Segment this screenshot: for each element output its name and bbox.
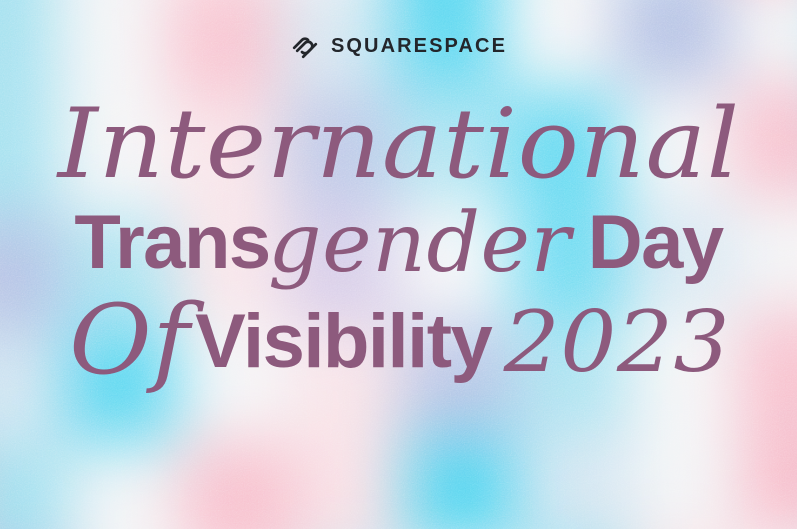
headline-word-gender: gender	[268, 203, 571, 285]
squarespace-logo-mark-icon	[290, 31, 320, 61]
headline-word-visibility: Visibility	[195, 304, 491, 380]
background-cell	[739, 422, 797, 529]
background-cell	[403, 431, 518, 529]
background-cell	[291, 434, 406, 529]
background-cell	[515, 428, 630, 529]
headline-word-day: Day	[588, 205, 723, 281]
background-cell	[180, 437, 295, 529]
headline-line-3: OfVisibility2023	[0, 286, 797, 378]
headline-word-year: 2023	[504, 300, 731, 384]
background-cell	[68, 440, 183, 529]
headline-block: International TransgenderDay OfVisibilit…	[0, 96, 797, 378]
squarespace-logo-lockup[interactable]: SQUARESPACE	[0, 31, 797, 61]
background-cell	[0, 443, 71, 529]
headline-word-trans: Trans	[74, 205, 269, 281]
poster-canvas: SQUARESPACE International TransgenderDay…	[0, 0, 797, 529]
headline-word-of: Of	[69, 292, 190, 388]
headline-line-1: International	[0, 96, 797, 200]
headline-word-international: International	[57, 96, 739, 192]
headline-line-2: TransgenderDay	[0, 200, 797, 286]
background-cell	[627, 425, 742, 529]
squarespace-wordmark: SQUARESPACE	[331, 36, 507, 56]
